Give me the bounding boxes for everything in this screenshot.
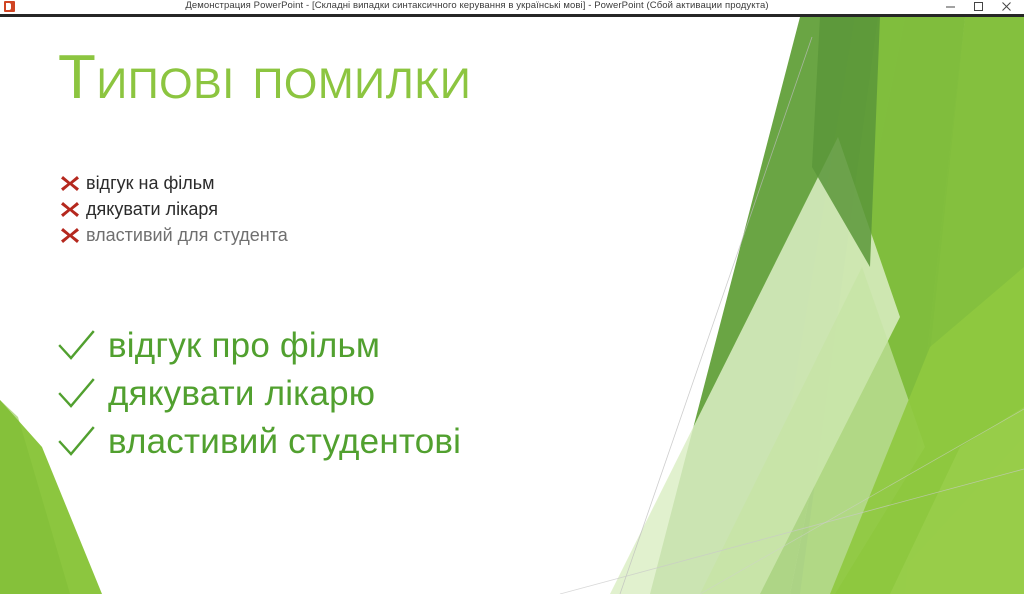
list-item: властивий для студента <box>60 222 480 248</box>
minimize-button[interactable] <box>936 0 964 13</box>
slide-canvas[interactable]: Типові помилки відгук на фільм дякувати … <box>0 17 1024 594</box>
corrections-list: відгук про фільм дякувати лікарю властив… <box>58 322 618 466</box>
list-item: відгук про фільм <box>58 322 618 370</box>
maximize-button[interactable] <box>964 0 992 13</box>
window-controls <box>936 0 1020 13</box>
correction-text: властивий студентові <box>108 421 461 463</box>
check-icon <box>58 421 108 463</box>
list-item: властивий студентові <box>58 418 618 466</box>
error-text: властивий для студента <box>86 224 288 246</box>
check-icon <box>58 373 108 415</box>
slide-title: Типові помилки <box>58 47 471 109</box>
window-titlebar: Демонстрация PowerPoint - [Складні випад… <box>0 0 1024 14</box>
titlebar-divider <box>0 14 1024 17</box>
check-icon <box>58 325 108 367</box>
error-text: відгук на фільм <box>86 172 215 194</box>
x-icon <box>60 172 86 194</box>
x-icon <box>60 224 86 246</box>
list-item: дякувати лікаря <box>60 196 480 222</box>
error-text: дякувати лікаря <box>86 198 218 220</box>
list-item: дякувати лікарю <box>58 370 618 418</box>
correction-text: дякувати лікарю <box>108 373 375 415</box>
correction-text: відгук про фільм <box>108 325 380 367</box>
window-title: Демонстрация PowerPoint - [Складні випад… <box>18 0 936 13</box>
list-item: відгук на фільм <box>60 170 480 196</box>
x-icon <box>60 198 86 220</box>
powerpoint-icon[interactable] <box>2 0 18 14</box>
close-button[interactable] <box>992 0 1020 13</box>
errors-list: відгук на фільм дякувати лікаря властиви… <box>60 170 480 248</box>
